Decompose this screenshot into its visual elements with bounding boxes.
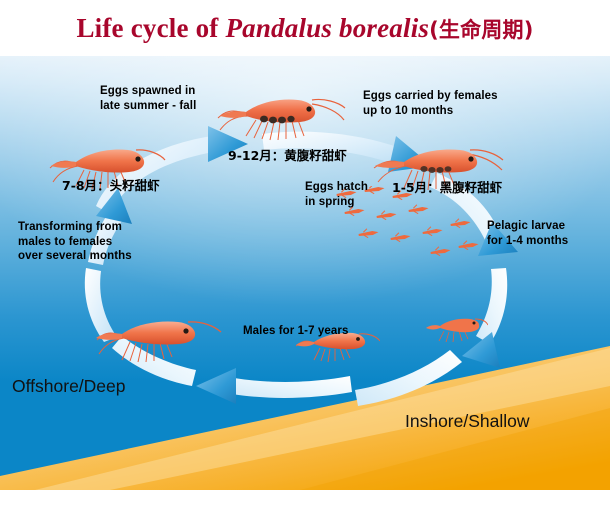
ocean-panel: Eggs spawned in late summer - fall Eggs …	[0, 56, 610, 490]
shrimp-antenna	[470, 150, 503, 160]
arrow-segment-bottom-center	[232, 376, 352, 398]
shrimp-legs	[97, 333, 172, 362]
shrimp-body	[404, 150, 477, 173]
shrimp-body	[246, 100, 315, 123]
shrimp-eye	[356, 337, 360, 341]
label-transforming: Transforming from males to females over …	[18, 220, 132, 264]
shrimp-legs	[439, 330, 468, 342]
label-chinese-stage-7-8: 7-8月：头籽甜虾	[62, 178, 160, 193]
shrimp-antenna	[312, 99, 345, 108]
shrimp-eye	[468, 156, 473, 161]
shrimp-legs	[218, 111, 304, 140]
title-main: Life cycle of	[76, 13, 225, 43]
shrimp-eye	[135, 156, 140, 161]
arrow-head-bottom-center	[196, 368, 236, 404]
shrimp-bottom-left	[96, 308, 222, 368]
shrimp-antenna	[359, 334, 380, 341]
shrimp-legs	[296, 341, 350, 362]
shrimp-bottom-right	[426, 312, 488, 346]
shrimp-tail	[426, 325, 440, 329]
label-eggs-hatch: Eggs hatch in spring	[305, 180, 368, 209]
label-eggs-carried: Eggs carried by females up to 10 months	[363, 89, 498, 118]
label-pelagic-larvae: Pelagic larvae for 1-4 months	[487, 219, 568, 248]
title-species: Pandalus borealis	[225, 13, 429, 43]
shrimp-tail	[51, 161, 76, 168]
shrimp-egg-mass	[420, 166, 451, 173]
shrimp-tail	[220, 111, 246, 118]
label-chinese-stage-1-5: 1-5月：黑腹籽甜虾	[392, 180, 502, 195]
shrimp-eye	[473, 322, 476, 325]
arrow-head-left-upper	[96, 188, 132, 224]
shrimp-eye	[306, 106, 311, 111]
label-males: Males for 1-7 years	[243, 324, 348, 339]
shrimp-antenna	[188, 322, 221, 332]
arrow-segment-bottom-right	[355, 350, 462, 406]
shrimp-tail	[375, 161, 404, 168]
shrimp-antenna-2	[468, 154, 502, 170]
shrimp-egg-mass	[260, 116, 295, 124]
shrimp-body	[122, 322, 195, 345]
shrimp-body	[440, 319, 479, 332]
arrow-segment-right-lower	[476, 268, 507, 344]
shrimp-tail	[96, 333, 122, 340]
title-bar: Life cycle of Pandalus borealis(生命周期)	[0, 0, 610, 56]
shrimp-body	[76, 150, 144, 173]
shrimp-tail	[296, 341, 314, 346]
label-zone-offshore: Offshore/Deep	[12, 376, 126, 397]
shrimp-antenna	[136, 150, 165, 160]
arrow-segment-top-left	[96, 136, 214, 214]
shrimp-antenna-2	[312, 104, 344, 120]
cycle-arrow-segments	[85, 126, 518, 406]
arrow-head-top-right	[388, 136, 432, 172]
arrow-head-right-lower	[462, 332, 500, 368]
shrimp-antenna	[475, 319, 488, 325]
slide-canvas: Life cycle of Pandalus borealis(生命周期)	[0, 0, 610, 518]
label-eggs-spawned: Eggs spawned in late summer - fall	[100, 84, 196, 113]
label-zone-inshore: Inshore/Shallow	[405, 411, 530, 432]
page-title: Life cycle of Pandalus borealis(生命周期)	[76, 13, 533, 44]
shrimp-eye	[183, 328, 188, 333]
arrow-segment-left-lower	[85, 268, 117, 342]
label-chinese-stage-9-12: 9-12月：黄腹籽甜虾	[228, 148, 347, 163]
shrimp-top-center	[216, 86, 346, 148]
title-chinese: (生命周期)	[429, 18, 533, 42]
